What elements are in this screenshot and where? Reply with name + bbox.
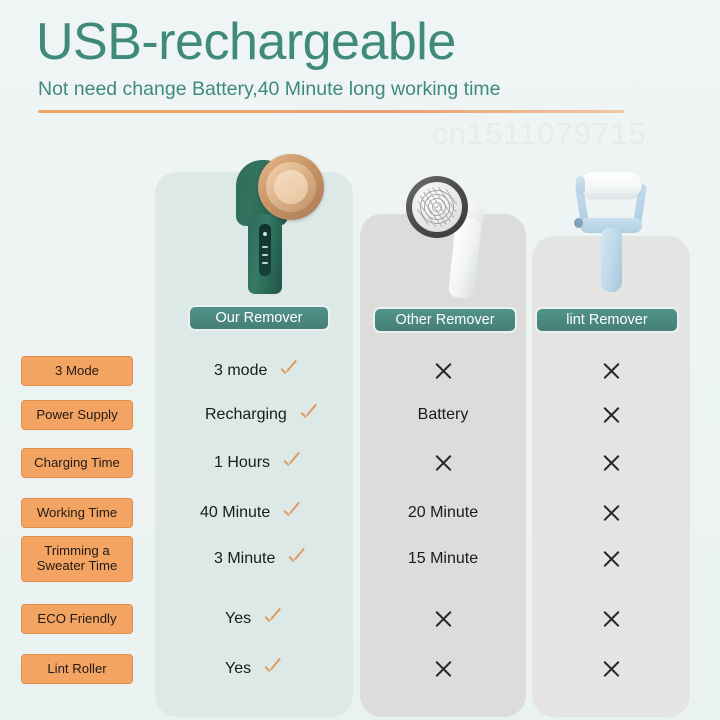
cell-value: Battery bbox=[418, 406, 469, 424]
feature-label: Trimming aSweater Time bbox=[21, 536, 133, 582]
cross-icon bbox=[434, 660, 453, 679]
check-icon bbox=[297, 405, 318, 426]
watermark-text: cn1511079715 bbox=[432, 116, 647, 152]
cell-lint-remover bbox=[532, 546, 690, 572]
cell-other-remover bbox=[360, 606, 526, 632]
cell-our-remover: 40 Minute bbox=[200, 500, 350, 526]
product-image-other-remover bbox=[400, 174, 498, 298]
cell-other-remover: 15 Minute bbox=[360, 546, 526, 572]
cell-lint-remover bbox=[532, 450, 690, 476]
cell-our-remover: Yes bbox=[225, 606, 375, 632]
cell-value: 40 Minute bbox=[200, 504, 270, 522]
cell-our-remover: Recharging bbox=[205, 402, 355, 428]
cross-icon bbox=[434, 610, 453, 629]
cell-value: 15 Minute bbox=[408, 550, 478, 568]
cross-icon bbox=[434, 454, 453, 473]
infographic-page: USB-rechargeable Not need change Battery… bbox=[0, 0, 720, 720]
cell-value: 3 Minute bbox=[214, 550, 275, 568]
cell-lint-remover bbox=[532, 656, 690, 682]
feature-label: Charging Time bbox=[21, 448, 133, 478]
cell-our-remover: Yes bbox=[225, 656, 375, 682]
header: USB-rechargeable Not need change Battery… bbox=[0, 0, 720, 122]
cell-other-remover bbox=[360, 450, 526, 476]
cell-value: 1 Hours bbox=[214, 454, 270, 472]
cell-value: Yes bbox=[225, 660, 251, 678]
feature-label: Working Time bbox=[21, 498, 133, 528]
cross-icon bbox=[602, 550, 621, 569]
cross-icon bbox=[602, 454, 621, 473]
cell-other-remover: 20 Minute bbox=[360, 500, 526, 526]
check-icon bbox=[280, 503, 301, 524]
cross-icon bbox=[602, 504, 621, 523]
page-title: USB-rechargeable bbox=[36, 12, 456, 72]
cross-icon bbox=[602, 660, 621, 679]
cell-value: Yes bbox=[225, 610, 251, 628]
check-icon bbox=[261, 659, 282, 680]
feature-label: Lint Roller bbox=[21, 654, 133, 684]
cell-lint-remover bbox=[532, 402, 690, 428]
header-divider bbox=[38, 110, 624, 113]
cross-icon bbox=[434, 362, 453, 381]
column-header-other-remover[interactable]: Other Remover bbox=[373, 307, 517, 333]
check-icon bbox=[261, 609, 282, 630]
cell-other-remover: Battery bbox=[360, 402, 526, 428]
cross-icon bbox=[602, 362, 621, 381]
column-header-lint-remover[interactable]: lint Remover bbox=[535, 307, 679, 333]
check-icon bbox=[277, 361, 298, 382]
page-subtitle: Not need change Battery,40 Minute long w… bbox=[38, 78, 501, 101]
cell-value: 20 Minute bbox=[408, 504, 478, 522]
cross-icon bbox=[602, 406, 621, 425]
check-icon bbox=[285, 549, 306, 570]
cell-our-remover: 3 mode bbox=[214, 358, 364, 384]
product-image-our-remover bbox=[206, 146, 324, 294]
cell-value: 3 mode bbox=[214, 362, 267, 380]
cell-lint-remover bbox=[532, 358, 690, 384]
cell-other-remover bbox=[360, 358, 526, 384]
cell-other-remover bbox=[360, 656, 526, 682]
cell-lint-remover bbox=[532, 606, 690, 632]
cross-icon bbox=[602, 610, 621, 629]
cell-lint-remover bbox=[532, 500, 690, 526]
cell-our-remover: 3 Minute bbox=[214, 546, 364, 572]
product-image-lint-remover bbox=[568, 168, 654, 294]
feature-label: ECO Friendly bbox=[21, 604, 133, 634]
cell-value: Recharging bbox=[205, 406, 287, 424]
feature-label: Power Supply bbox=[21, 400, 133, 430]
feature-label: 3 Mode bbox=[21, 356, 133, 386]
check-icon bbox=[280, 453, 301, 474]
cell-our-remover: 1 Hours bbox=[214, 450, 364, 476]
column-header-our-remover[interactable]: Our Remover bbox=[188, 305, 330, 331]
